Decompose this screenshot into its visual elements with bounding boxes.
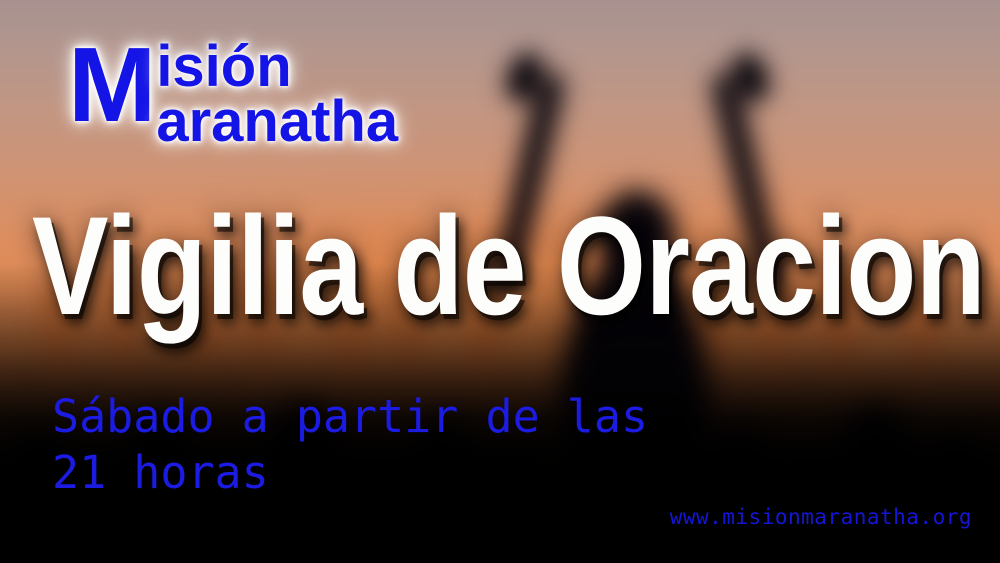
logo-line-maranatha: aranatha <box>156 94 398 149</box>
logo-initial-letter: M <box>68 32 154 138</box>
logo-line-mision: isión <box>156 42 398 92</box>
event-schedule: Sábado a partir de las 21 horas <box>52 389 648 501</box>
website-url[interactable]: www.misionmaranatha.org <box>670 505 972 529</box>
brand-logo[interactable]: M isión aranatha <box>68 36 398 149</box>
poster-canvas: M isión aranatha Vigilia de Oracion Sába… <box>0 0 1000 563</box>
logo-text-lines: isión aranatha <box>156 36 398 149</box>
poster-content: M isión aranatha Vigilia de Oracion Sába… <box>0 0 1000 563</box>
event-title: Vigilia de Oracion <box>32 196 803 336</box>
